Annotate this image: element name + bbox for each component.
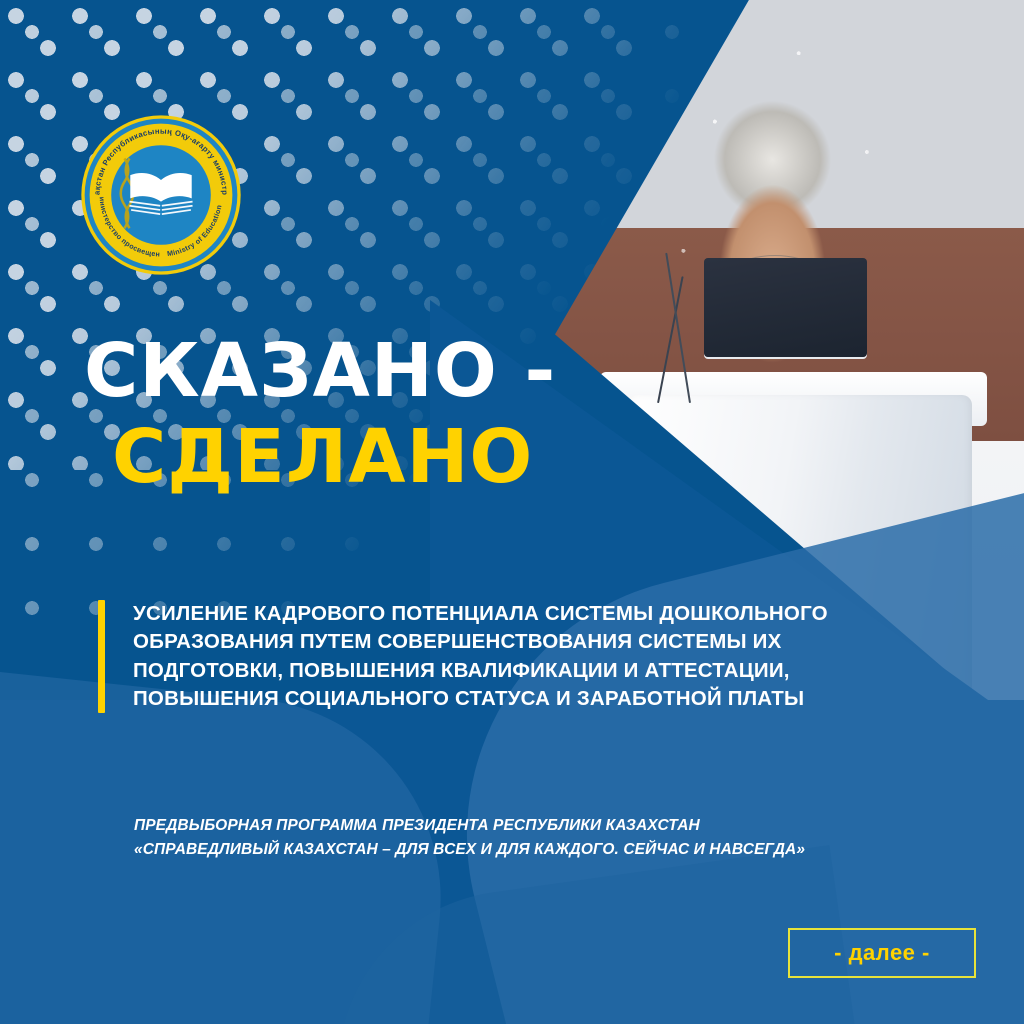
accent-bar — [98, 600, 105, 713]
ministry-emblem: Қазақстан Республикасының Оқу-ағарту мин… — [78, 112, 244, 278]
poster-canvas: Қазақстан Республикасының Оқу-ағарту мин… — [0, 0, 1024, 1024]
headline-line-1: СКАЗАНО - — [84, 336, 644, 406]
source-line-2: «СПРАВЕДЛИВЫЙ КАЗАХСТАН – ДЛЯ ВСЕХ И ДЛЯ… — [134, 838, 964, 862]
statement-block: УСИЛЕНИЕ КАДРОВОГО ПОТЕНЦИАЛА СИСТЕМЫ ДО… — [98, 600, 888, 713]
headline: СКАЗАНО - СДЕЛАНО — [84, 336, 644, 493]
statement-text: УСИЛЕНИЕ КАДРОВОГО ПОТЕНЦИАЛА СИСТЕМЫ ДО… — [133, 600, 888, 713]
headline-line-2: СДЕЛАНО — [84, 422, 644, 492]
source-citation: ПРЕДВЫБОРНАЯ ПРОГРАММА ПРЕЗИДЕНТА РЕСПУБ… — [134, 814, 964, 862]
source-line-1: ПРЕДВЫБОРНАЯ ПРОГРАММА ПРЕЗИДЕНТА РЕСПУБ… — [134, 817, 700, 834]
laptop-screen — [704, 258, 866, 357]
next-button[interactable]: - далее - — [788, 928, 976, 978]
